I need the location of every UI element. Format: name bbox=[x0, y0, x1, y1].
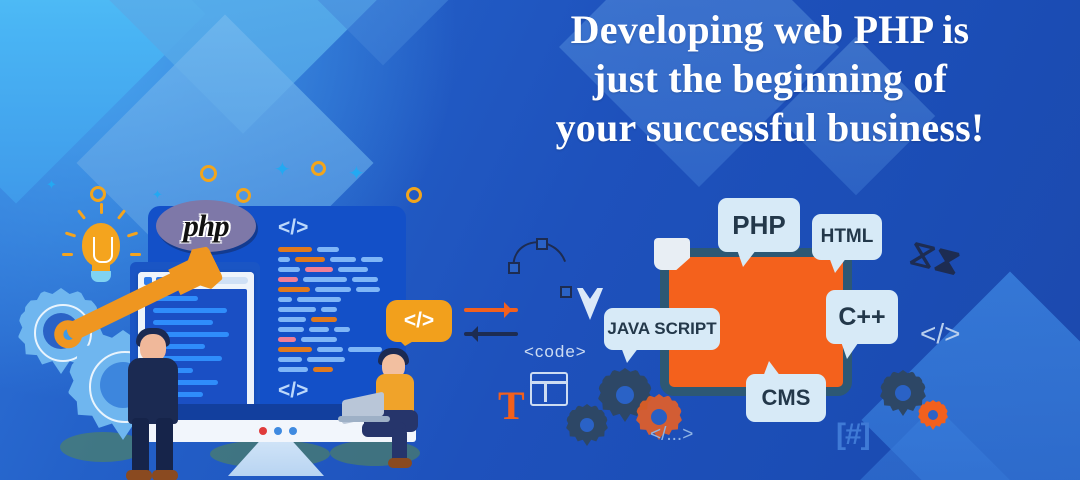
code-word-icon: <code> bbox=[524, 342, 587, 362]
ring-decoration bbox=[406, 187, 422, 203]
badge-php[interactable]: PHP bbox=[718, 198, 800, 252]
sparkle-icon: ✦ bbox=[274, 160, 291, 180]
bezier-curve-icon bbox=[512, 242, 568, 292]
php-promo-banner: ✦ ✦ ✦ ✦ Developing web PHP is just the b… bbox=[0, 0, 1080, 480]
badge-php-label: PHP bbox=[732, 210, 785, 241]
gear-icon bbox=[566, 404, 608, 446]
sparkle-icon: ✦ bbox=[46, 178, 57, 191]
headline-line-1: Developing web PHP is bbox=[470, 6, 1070, 55]
badge-cpp-label: C++ bbox=[838, 303, 885, 332]
ellipsis-tag-icon: </...> bbox=[650, 424, 693, 446]
badge-java-script-label: JAVA SCRIPT bbox=[607, 319, 716, 339]
badge-java-script[interactable]: JAVA SCRIPT bbox=[604, 308, 720, 350]
sparkle-icon: ✦ bbox=[152, 188, 163, 201]
page-title: Developing web PHP is just the beginning… bbox=[470, 6, 1070, 152]
text-tool-icon: T bbox=[498, 382, 525, 429]
sparkle-icon: ✦ bbox=[348, 164, 365, 184]
layout-grid-icon bbox=[530, 372, 568, 406]
gear-icon bbox=[918, 400, 948, 430]
arrow-left-icon bbox=[464, 332, 518, 336]
code-tag-icon: </> bbox=[920, 318, 960, 350]
ring-decoration bbox=[236, 188, 251, 203]
hash-bracket-icon: [#] bbox=[836, 418, 870, 452]
status-dot bbox=[259, 427, 267, 435]
badge-html[interactable]: HTML bbox=[812, 214, 882, 260]
status-dot bbox=[274, 427, 282, 435]
code-speech-bubble: </> bbox=[386, 300, 452, 342]
ring-decoration bbox=[311, 161, 326, 176]
person-with-wrench bbox=[108, 330, 198, 478]
status-dot bbox=[289, 427, 297, 435]
code-bubble-tag: </> bbox=[404, 309, 434, 333]
php-logo-text: php bbox=[183, 208, 228, 244]
lightbulb-icon bbox=[78, 215, 124, 285]
arrow-right-icon bbox=[464, 308, 518, 312]
dna-icon: ⧖⧗ bbox=[902, 234, 953, 294]
badge-cpp[interactable]: C++ bbox=[826, 290, 898, 344]
person-with-laptop bbox=[356, 348, 432, 466]
badge-cms[interactable]: CMS bbox=[746, 374, 826, 422]
ring-decoration bbox=[200, 165, 217, 182]
headline-line-3: your successful business! bbox=[470, 104, 1070, 153]
headline-line-2: just the beginning of bbox=[470, 55, 1070, 104]
badge-cms-label: CMS bbox=[762, 385, 811, 411]
laptop-icon bbox=[342, 396, 394, 422]
badge-html-label: HTML bbox=[821, 226, 874, 248]
code-open-tag: </> bbox=[278, 216, 394, 240]
ring-decoration bbox=[90, 186, 106, 202]
php-logo: php bbox=[156, 200, 256, 252]
diamond-icon bbox=[577, 288, 603, 320]
